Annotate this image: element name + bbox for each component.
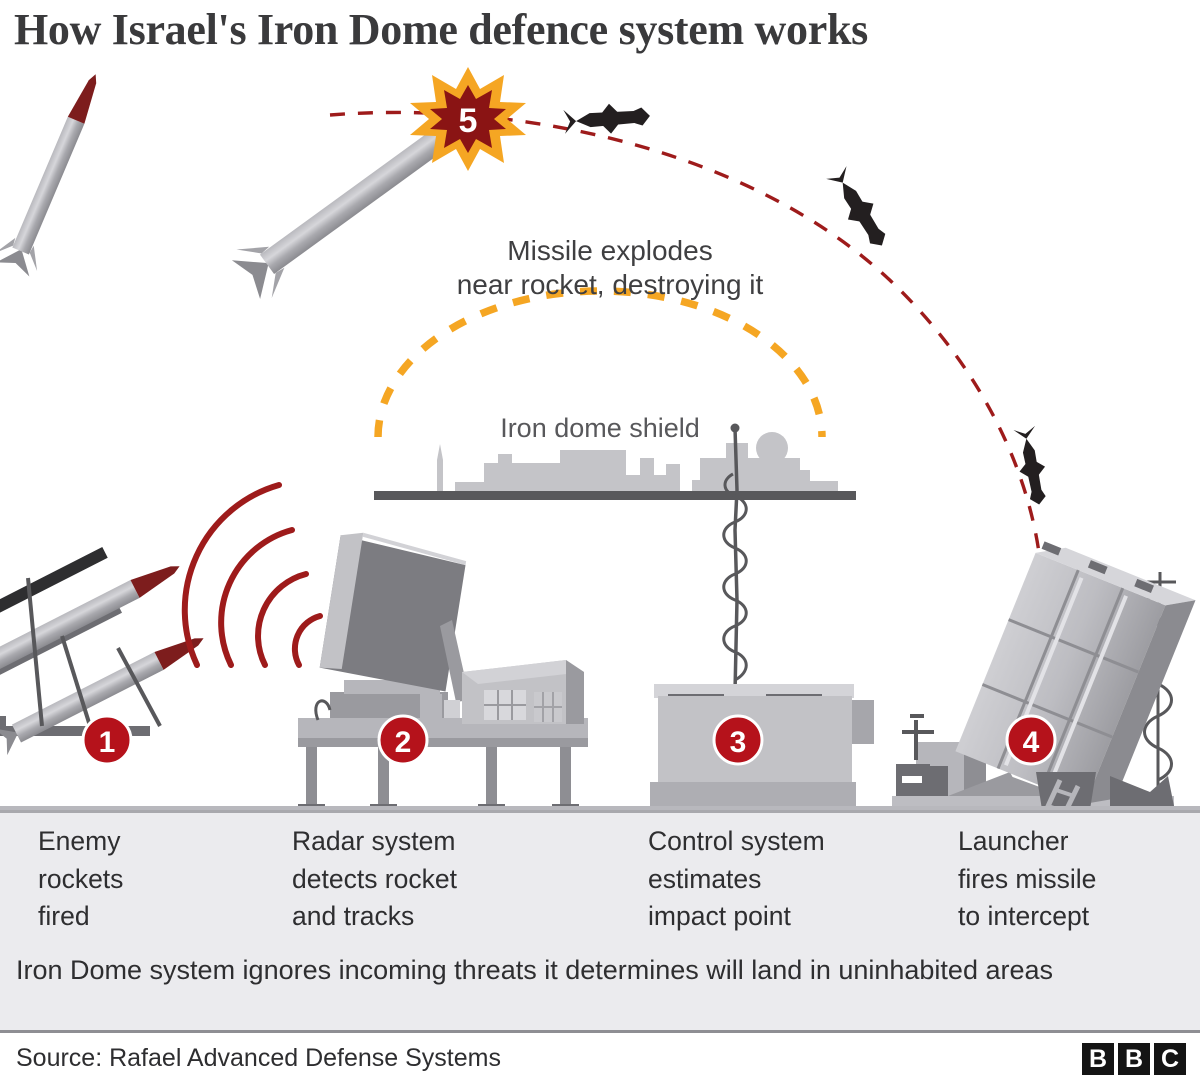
step-marker-4: 4 xyxy=(1007,716,1055,764)
caption-line: impact point xyxy=(648,898,918,936)
step-marker-1: 1 xyxy=(83,716,131,764)
svg-text:3: 3 xyxy=(730,726,747,759)
source-text: Source: Rafael Advanced Defense Systems xyxy=(16,1044,501,1073)
explosion-label-line1: Missile explodes xyxy=(330,234,890,268)
caption-line: Radar system xyxy=(292,823,562,861)
caption-line: estimates xyxy=(648,861,918,899)
illustration-stage: 5 xyxy=(0,60,1200,810)
caption-line: and tracks xyxy=(292,898,562,936)
caption-line: Launcher xyxy=(958,823,1198,861)
caption-line: fired xyxy=(38,898,268,936)
step-marker-3: 3 xyxy=(714,716,762,764)
bbc-logo: B B C xyxy=(1082,1043,1186,1075)
footnote-band: Iron Dome system ignores incoming threat… xyxy=(0,943,1200,1030)
caption-line: rockets xyxy=(38,861,268,899)
caption-line: detects rocket xyxy=(292,861,562,899)
svg-text:2: 2 xyxy=(395,726,412,759)
step-marker-2: 2 xyxy=(379,716,427,764)
bbc-logo-letter-b2: B xyxy=(1118,1043,1150,1075)
caption-line: Enemy xyxy=(38,823,268,861)
svg-text:4: 4 xyxy=(1023,726,1040,759)
caption-step-1: Enemy rockets fired xyxy=(38,823,268,936)
caption-line: fires missile xyxy=(958,861,1198,899)
explosion-step-number: 5 xyxy=(459,102,478,140)
caption-step-3: Control system estimates impact point xyxy=(648,823,918,936)
caption-line: to intercept xyxy=(958,898,1198,936)
infographic-root: How Israel's Iron Dome defence system wo… xyxy=(0,0,1200,1084)
caption-line: Control system xyxy=(648,823,918,861)
explosion-label-line2: near rocket, destroying it xyxy=(330,268,890,302)
interceptor-missile-icon xyxy=(563,101,651,137)
radar-waves-icon xyxy=(185,485,320,665)
page-title: How Israel's Iron Dome defence system wo… xyxy=(14,2,1194,58)
caption-step-2: Radar system detects rocket and tracks xyxy=(292,823,562,936)
explosion-label: Missile explodes near rocket, destroying… xyxy=(330,234,890,302)
source-bar: Source: Rafael Advanced Defense Systems … xyxy=(0,1030,1200,1084)
missile-launcher-icon xyxy=(892,538,1195,810)
radar-icon xyxy=(298,529,588,810)
shield-label: Iron dome shield xyxy=(400,412,800,445)
footnote-text: Iron Dome system ignores incoming threat… xyxy=(16,953,1136,989)
bbc-logo-letter-b1: B xyxy=(1082,1043,1114,1075)
bbc-logo-letter-c: C xyxy=(1154,1043,1186,1075)
rocket-launcher-icon xyxy=(0,65,210,755)
caption-columns: Enemy rockets fired Radar system detects… xyxy=(0,813,1200,946)
caption-step-4: Launcher fires missile to intercept xyxy=(958,823,1198,936)
caption-band: Enemy rockets fired Radar system detects… xyxy=(0,810,1200,946)
svg-text:1: 1 xyxy=(99,726,116,759)
